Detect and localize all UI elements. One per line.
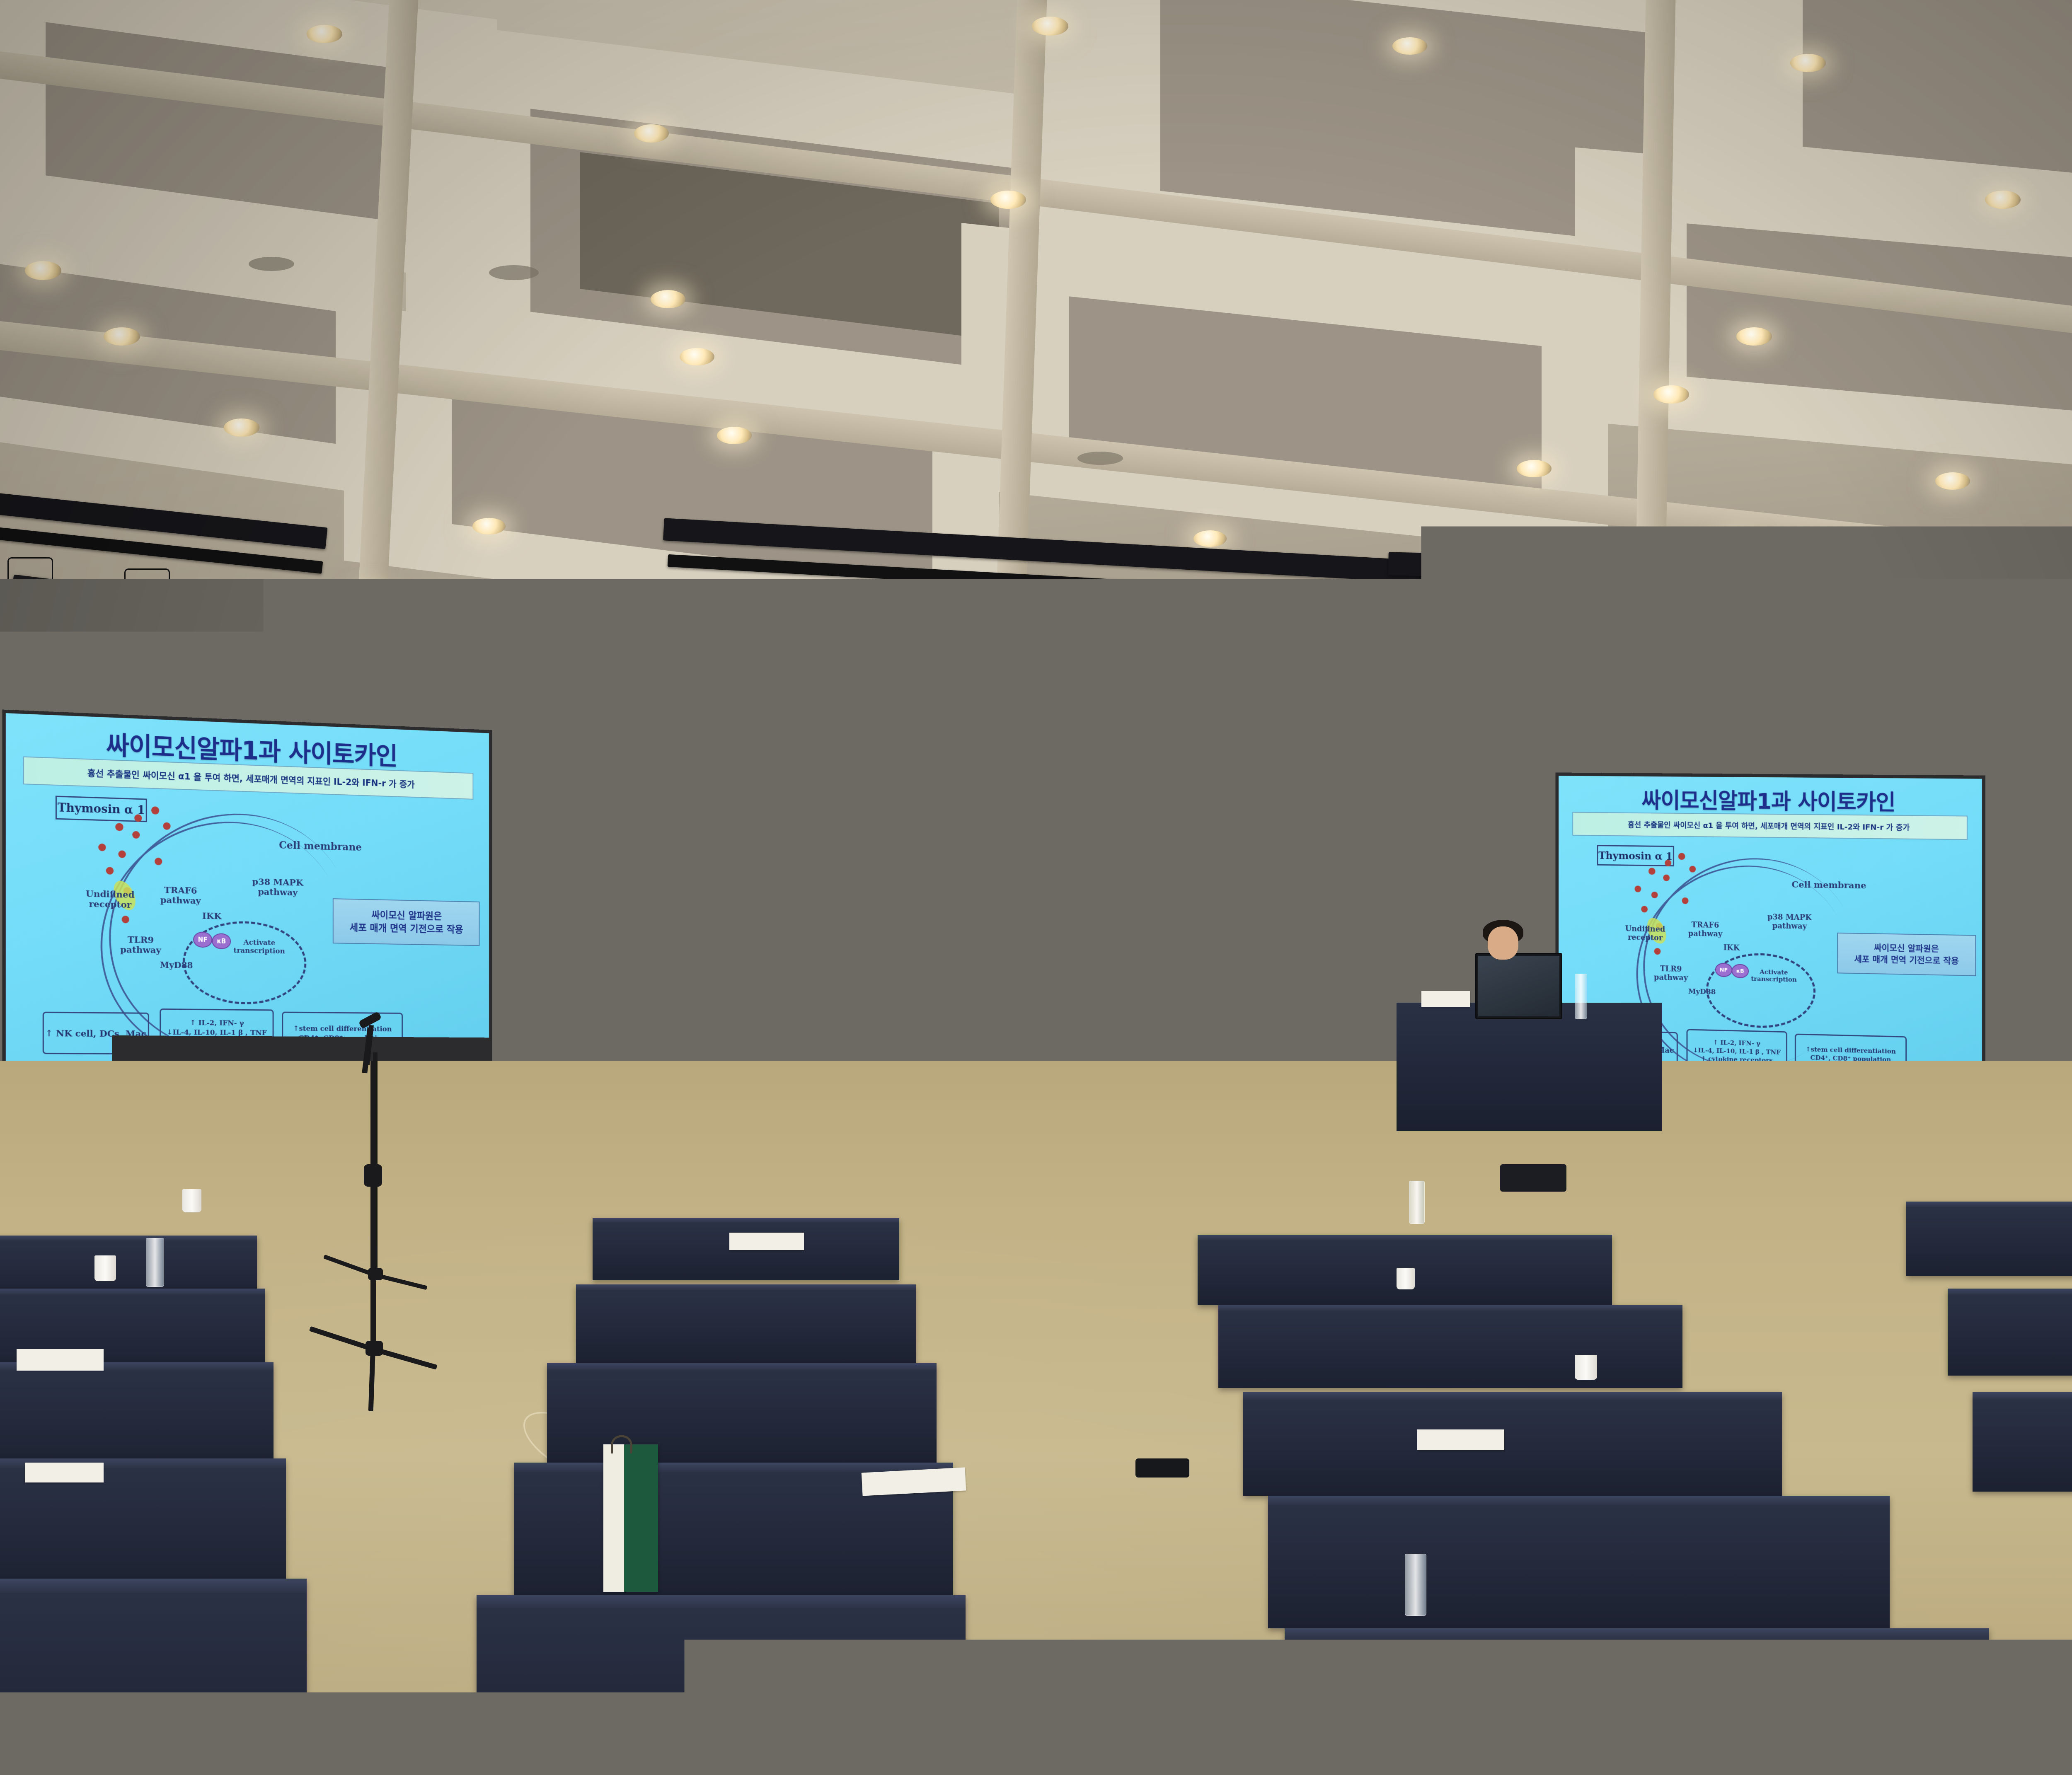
- banquet-chair[interactable]: [1823, 1550, 2072, 1775]
- banquet-chair[interactable]: [0, 1661, 133, 1775]
- conference-hall-photo: 싸이모신알파1과 사이토카인 흉선 추출물인 싸이모신 α1 을 투여 하면, …: [0, 0, 2072, 1775]
- banquet-chair[interactable]: [75, 1210, 182, 1326]
- attendee: [1691, 1098, 1780, 1233]
- attendee: [518, 1197, 609, 1338]
- attendee: [1575, 1090, 1662, 1222]
- banquet-chair[interactable]: [1220, 1243, 1334, 1367]
- attendee: [0, 1301, 66, 1454]
- attendee: [1475, 1094, 1562, 1226]
- attendee: [845, 1091, 889, 1153]
- attendee: [762, 1202, 858, 1347]
- attendee: [961, 1086, 1008, 1148]
- attendee: [903, 1098, 949, 1160]
- attendee: [990, 1342, 1098, 1508]
- attendee: [1322, 1096, 1371, 1162]
- attendee: [1111, 1226, 1206, 1371]
- banquet-chair[interactable]: [1119, 1371, 1247, 1512]
- banquet-chair[interactable]: [1397, 1608, 1612, 1775]
- banquet-chair[interactable]: [744, 1342, 868, 1479]
- banquet-chair[interactable]: [613, 1342, 738, 1479]
- banquet-chair[interactable]: [485, 1338, 609, 1475]
- banquet-chair[interactable]: [1624, 1392, 1765, 1541]
- attendee-white-hat: [638, 1177, 758, 1351]
- banquet-chair[interactable]: [854, 1608, 1086, 1775]
- banquet-chair[interactable]: [1086, 1661, 1310, 1775]
- attendee: [1214, 1127, 1297, 1255]
- banquet-chair[interactable]: [1251, 1371, 1380, 1512]
